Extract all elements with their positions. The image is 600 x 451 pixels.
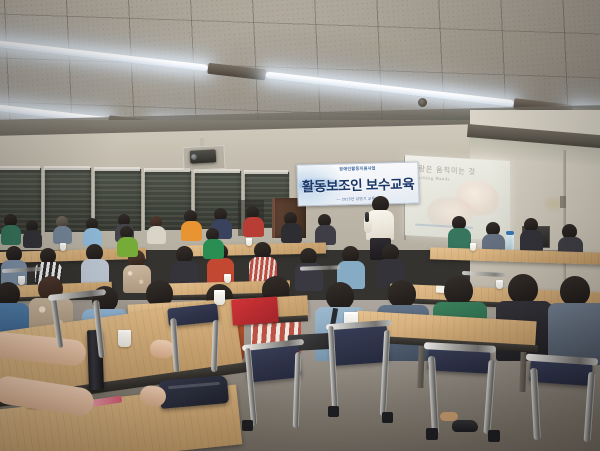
event-banner: 장애인활동지원사업 활동보조인 보수교육 — 2015년 상반기 교육 — [296, 162, 419, 207]
paper-cup [18, 276, 25, 285]
blind-headrail [0, 166, 40, 170]
chair-foot [426, 428, 438, 440]
shoe [452, 420, 478, 432]
lecture-hall-photo: 사랑은 움직이는 것 Touching Hands 장애인활동지원사업 활동보조… [0, 0, 600, 451]
chair-backrest[interactable] [329, 324, 390, 366]
foot [440, 412, 458, 421]
wall-switch-box [560, 196, 566, 208]
chair-foot [328, 406, 339, 417]
red-notebook [231, 296, 279, 325]
green-shirt [117, 237, 138, 257]
chair-frame [300, 265, 340, 270]
blind-headrail [44, 166, 90, 170]
chair-foot [242, 420, 253, 431]
banner-title: 활동보조인 보수교육 [301, 172, 414, 195]
paper-cup [470, 243, 476, 251]
bottle-cap [506, 231, 514, 235]
paper-cup [118, 330, 131, 347]
window-blind[interactable] [44, 168, 92, 232]
chair-foot [488, 430, 500, 442]
paper-cup [496, 280, 503, 289]
paper-cup [246, 238, 252, 246]
blind-headrail [94, 167, 140, 171]
cabinet-edge [272, 198, 275, 238]
paper-cup [60, 243, 66, 251]
paper-cup [214, 290, 225, 305]
chair-seat[interactable] [427, 348, 490, 373]
navy-pouch [159, 375, 229, 409]
air-vent [452, 88, 478, 100]
chair-foot [382, 412, 393, 423]
water-bottle [506, 234, 514, 251]
paper-cup [224, 274, 231, 283]
banner-superscript: 장애인활동지원사업 [339, 166, 376, 173]
microphone-icon [365, 212, 369, 222]
smoke-detector-icon [418, 98, 427, 107]
blind-headrail [244, 170, 288, 174]
